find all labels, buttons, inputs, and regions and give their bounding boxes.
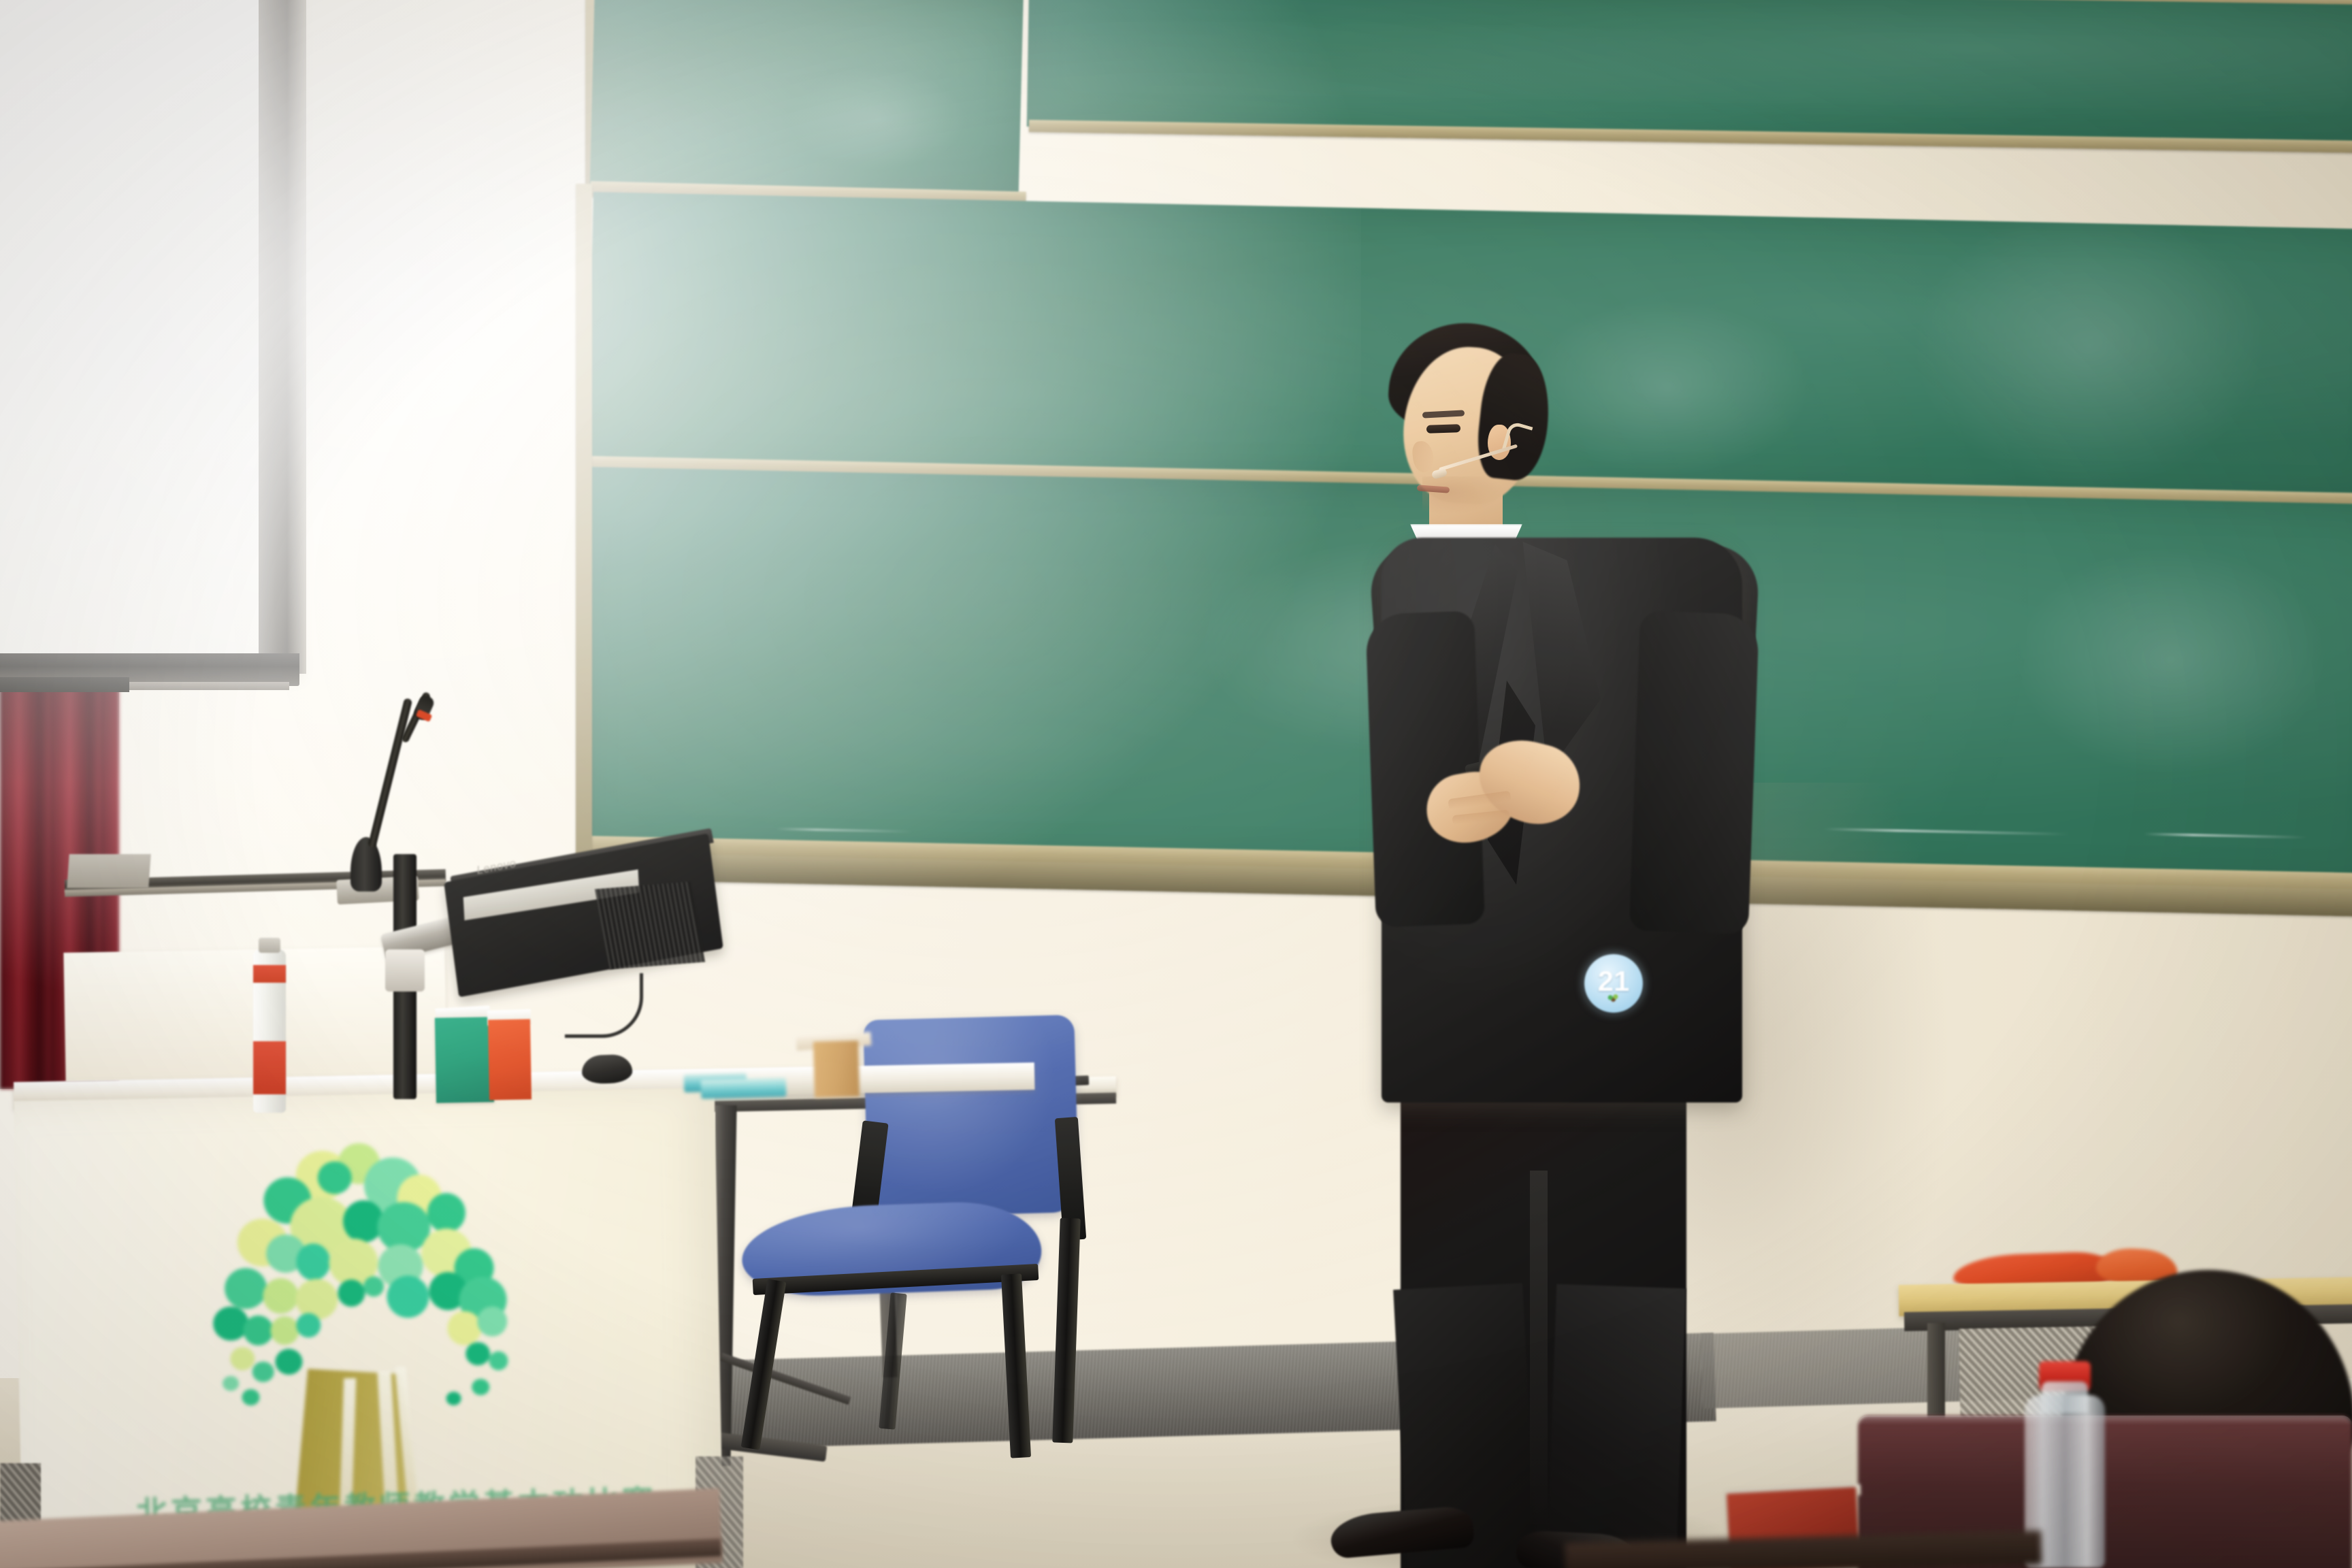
logo-leaf xyxy=(252,1361,274,1382)
logo-leaf xyxy=(275,1349,303,1375)
presenter-right-arm xyxy=(1629,610,1759,934)
water-bottle-label-top xyxy=(253,965,286,983)
projection-screen xyxy=(0,0,299,674)
cardboard-box[interactable] xyxy=(813,1041,860,1098)
logo-leaf xyxy=(243,1315,274,1345)
water-bottle-cap xyxy=(259,938,280,953)
audience-seat-highlight xyxy=(1858,1416,2352,1425)
logo-leaf xyxy=(242,1389,259,1406)
presenter-face-shading xyxy=(1422,476,1504,514)
logo-leaf xyxy=(387,1275,429,1318)
badge-number: 21 xyxy=(1598,968,1630,995)
logo-leaf xyxy=(338,1279,365,1307)
projection-screen-surface xyxy=(0,0,299,674)
trouser-seam xyxy=(1530,1171,1548,1524)
logo-leaf xyxy=(465,1342,491,1366)
competition-logo: 北京高校青年教师教学基本功比赛 BEIJING HIGHER EDUCATION… xyxy=(159,1139,549,1556)
logo-leaf xyxy=(295,1278,338,1320)
logo-leaf xyxy=(223,1376,239,1391)
chalk-box-green[interactable] xyxy=(435,1017,494,1102)
logo-leaf xyxy=(447,1311,482,1345)
badge-tree-icon xyxy=(1605,994,1622,1002)
chalkboard-frame xyxy=(576,184,592,857)
logo-leaf xyxy=(213,1306,249,1341)
computer-mouse[interactable] xyxy=(581,1054,632,1085)
logo-leaf xyxy=(446,1392,461,1405)
presenter-right-leg xyxy=(1547,1284,1686,1568)
monitor-post-collar xyxy=(385,949,425,992)
logo-leaf xyxy=(317,1161,352,1194)
projection-screen-edge xyxy=(259,0,306,674)
monitor-vent-grille xyxy=(595,881,705,969)
chalk-box-orange[interactable] xyxy=(488,1019,532,1100)
logo-leaf xyxy=(472,1379,489,1396)
chair-backrest xyxy=(863,1015,1079,1218)
logo-leaf xyxy=(296,1313,321,1338)
logo-leaf xyxy=(477,1306,508,1337)
logo-leaf xyxy=(230,1347,255,1371)
presenter-eye xyxy=(1426,424,1460,434)
chalkboard-eraser[interactable] xyxy=(701,1077,787,1098)
logo-leaf xyxy=(363,1276,385,1297)
logo-leaf xyxy=(270,1316,299,1345)
logo-leaf xyxy=(263,1278,299,1314)
lecture-hall-photo: 21 xyxy=(0,0,2352,1568)
lectern-side-block xyxy=(67,854,150,888)
logo-leaf xyxy=(489,1351,508,1371)
logo-leaf xyxy=(225,1268,267,1309)
curtain-rail xyxy=(0,677,129,692)
chalkboard-panel xyxy=(590,0,1024,197)
logo-leaf xyxy=(296,1243,331,1281)
water-bottle-label xyxy=(253,1041,286,1094)
contestant-badge: 21 xyxy=(1584,954,1643,1013)
logo-leaf xyxy=(427,1193,465,1233)
